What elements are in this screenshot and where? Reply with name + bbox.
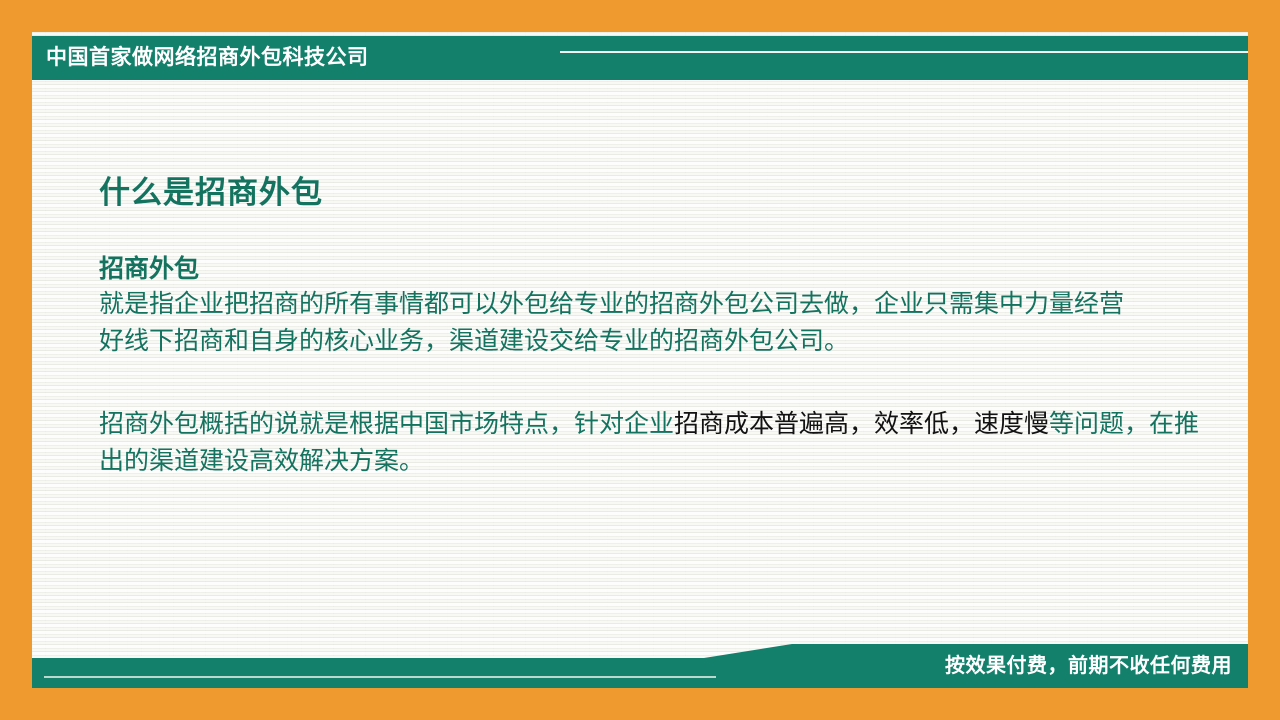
header-title: 中国首家做网络招商外包科技公司 (46, 40, 369, 76)
footer-hairline-divider (44, 676, 716, 678)
page-title: 什么是招商外包 (99, 172, 1219, 214)
slide-canvas: 中国首家做网络招商外包科技公司 什么是招商外包 招商外包 就是指企业把招商的所有… (0, 0, 1280, 720)
slide-content: 什么是招商外包 招商外包 就是指企业把招商的所有事情都可以外包给专业的招商外包公… (99, 172, 1219, 480)
definition-paragraph: 就是指企业把招商的所有事情都可以外包给专业的招商外包公司去做，企业只需集中力量经… (99, 286, 1139, 360)
summary-paragraph: 招商外包概括的说就是根据中国市场特点，针对企业招商成本普遍高，效率低，速度慢等问… (99, 406, 1219, 480)
summary-highlight: 招商成本普遍高，效率低，速度慢 (674, 410, 1049, 438)
footer-tagline: 按效果付费，前期不收任何费用 (945, 648, 1232, 684)
header-hairline-divider (560, 51, 1248, 53)
summary-text-part1: 招商外包概括的说就是根据中国市场特点，针对企业 (99, 410, 674, 438)
lead-term: 招商外包 (99, 252, 1219, 286)
